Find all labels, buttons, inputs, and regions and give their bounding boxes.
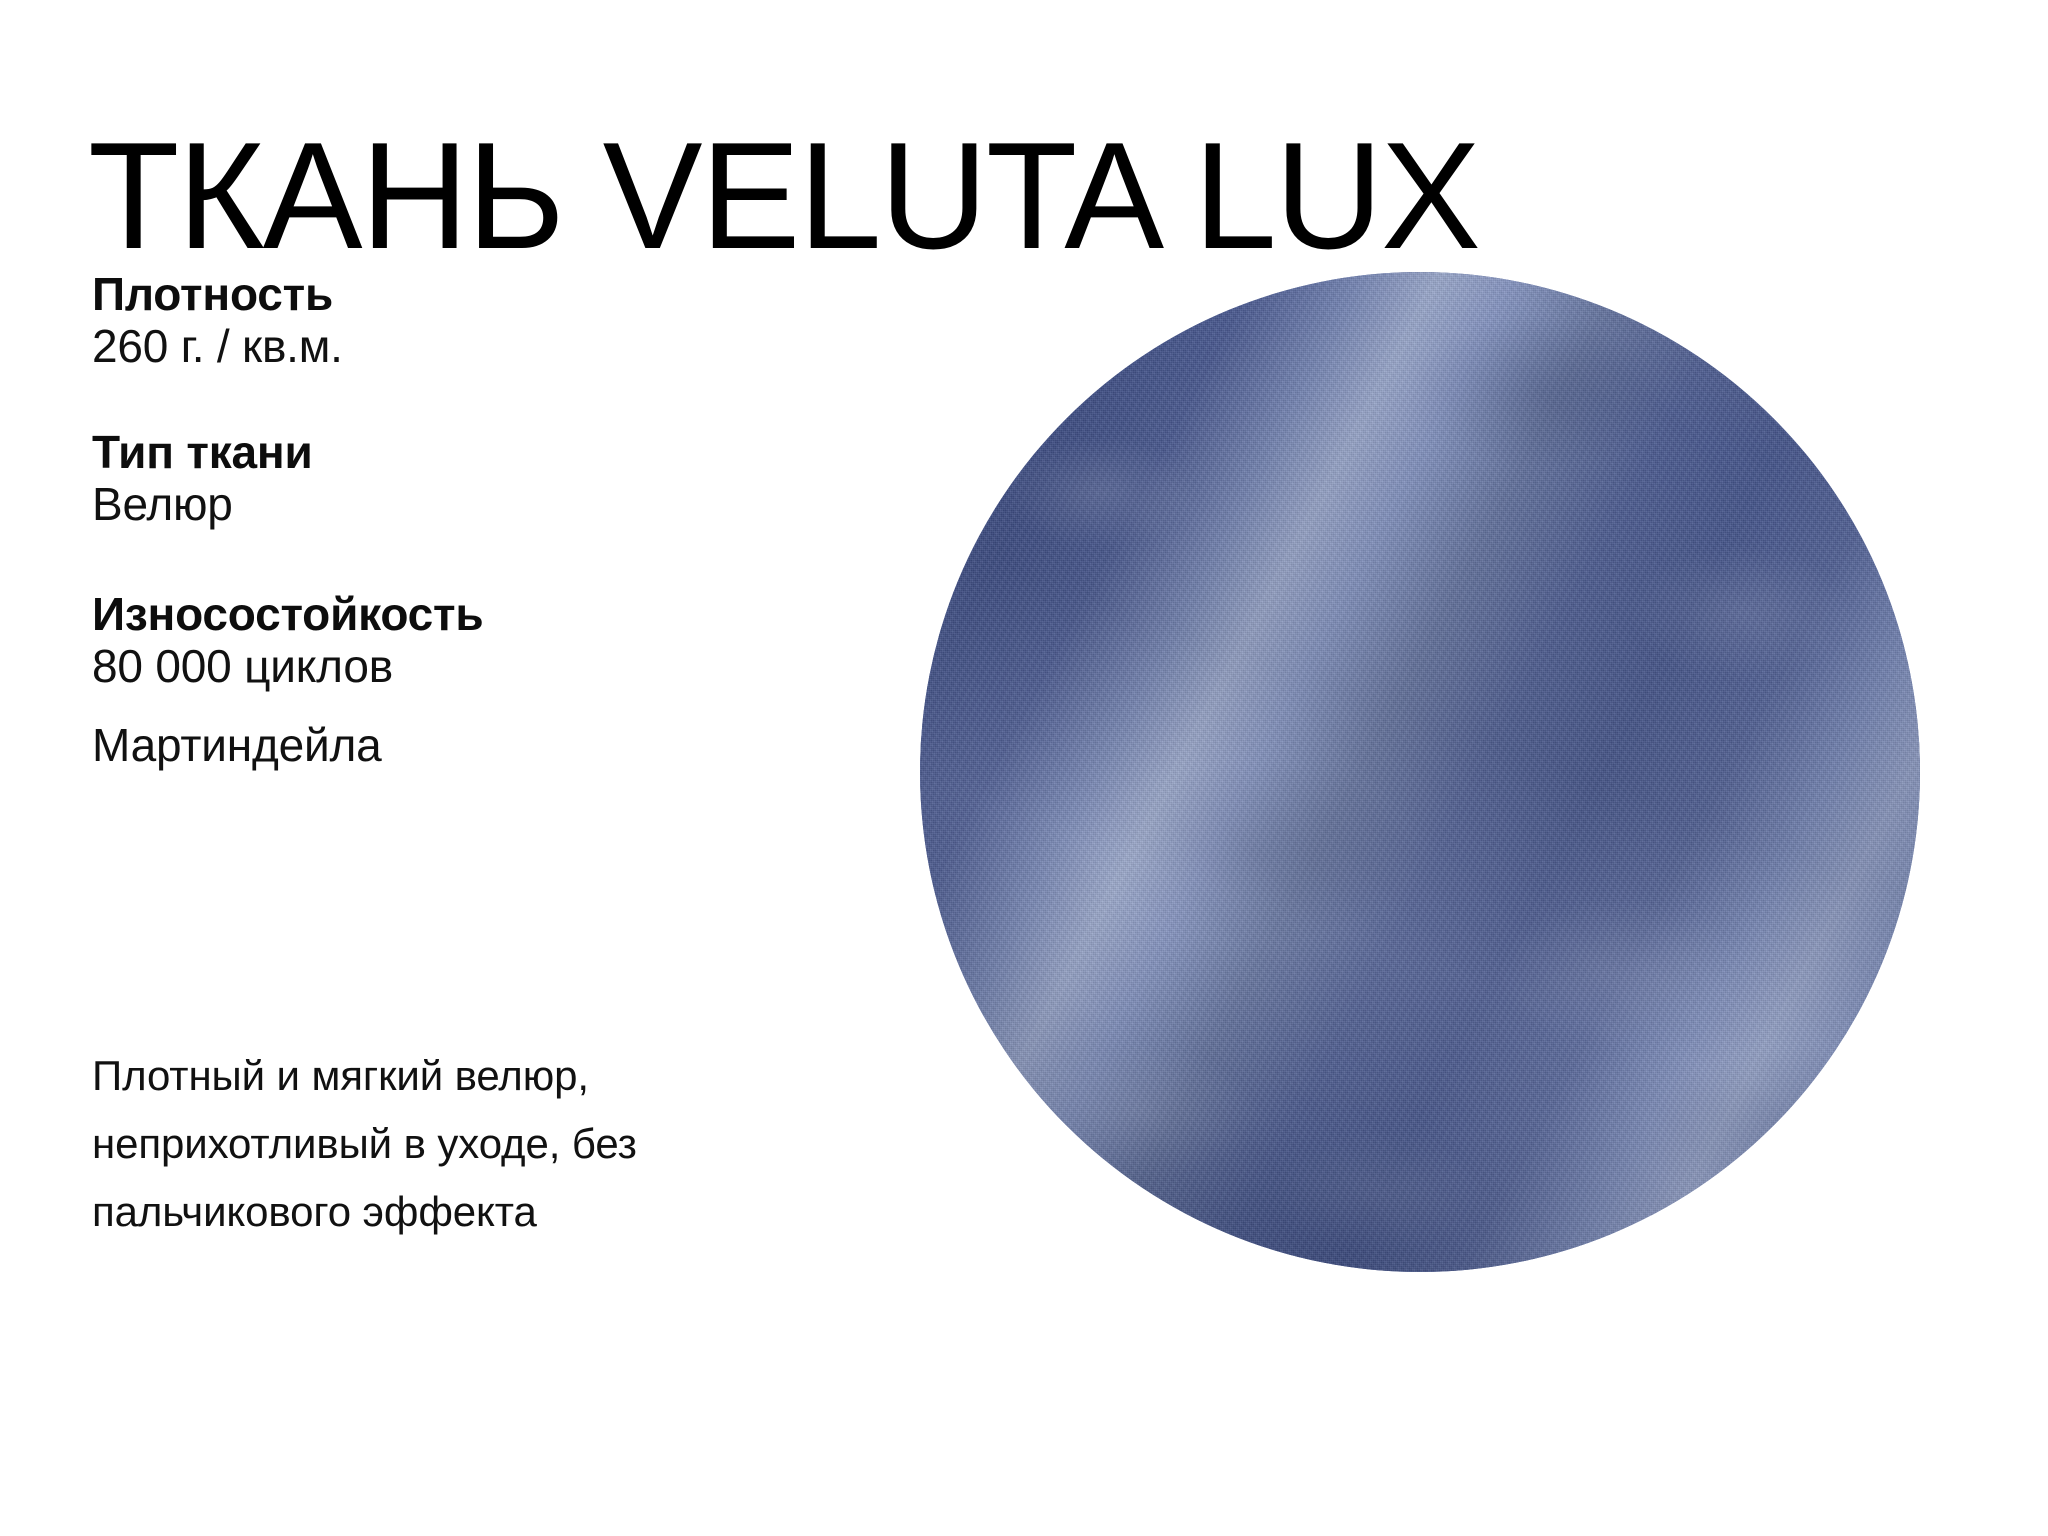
fabric-vignette-layer — [920, 272, 1920, 1272]
fabric-swatch-image — [920, 272, 1920, 1272]
spec-block-density: Плотность 260 г. / кв.м. — [92, 268, 752, 374]
spec-value-durability-standard: Мартиндейла — [92, 719, 752, 772]
spec-block-fabric-type: Тип ткани Велюр — [92, 426, 752, 532]
spec-value-density: 260 г. / кв.м. — [92, 320, 752, 373]
spec-list: Плотность 260 г. / кв.м. Тип ткани Велюр… — [92, 268, 752, 827]
spec-value-durability: 80 000 циклов — [92, 640, 752, 693]
spec-block-durability: Износостойкость 80 000 циклов Мартиндейл… — [92, 588, 752, 773]
spec-label-fabric-type: Тип ткани — [92, 426, 752, 478]
page-title: ТКАНЬ VELUTA LUX — [88, 120, 1960, 272]
spec-value-fabric-type: Велюр — [92, 478, 752, 531]
fabric-description: Плотный и мягкий велюр, неприхотливый в … — [92, 1042, 792, 1246]
spec-label-durability: Износостойкость — [92, 588, 752, 640]
spec-label-density: Плотность — [92, 268, 752, 320]
infographic-page: ТКАНЬ VELUTA LUX Плотность 260 г. / кв.м… — [0, 0, 2048, 1536]
